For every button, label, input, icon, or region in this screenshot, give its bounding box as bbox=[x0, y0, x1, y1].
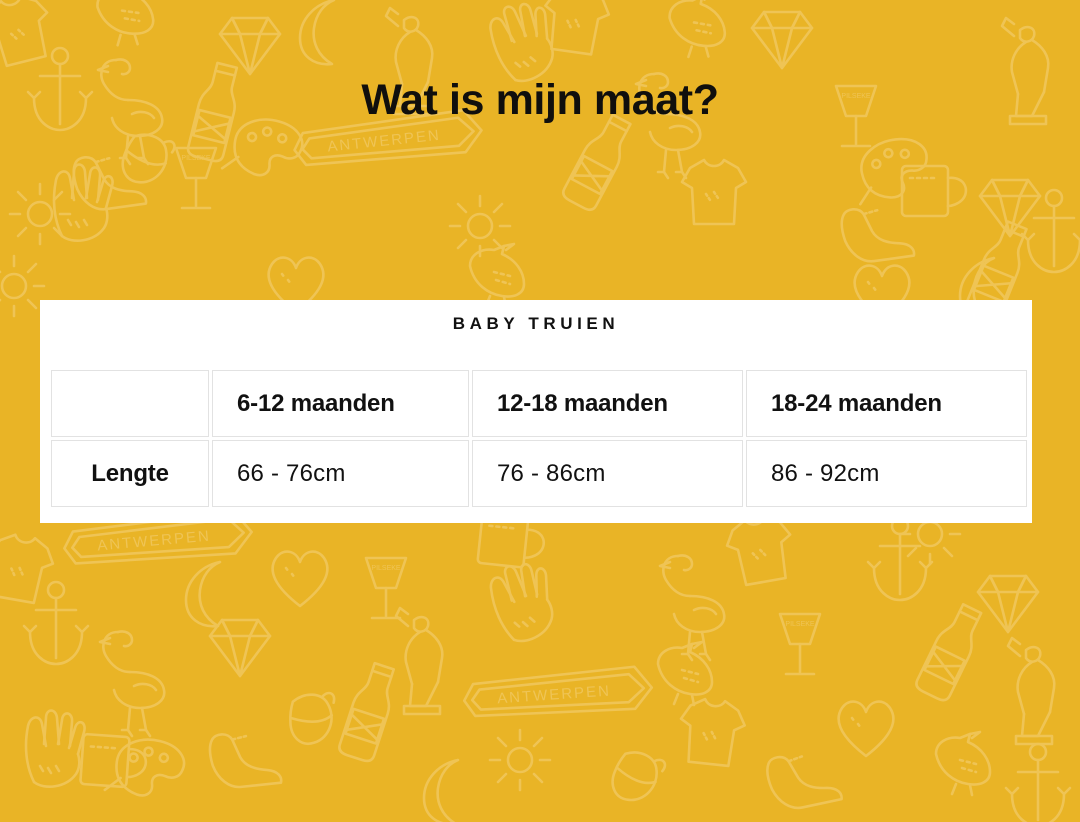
cell-lengte-18-24-maanden: 86 - 92cm bbox=[746, 440, 1027, 507]
size-chart-heading: BABY TRUIEN bbox=[40, 300, 1032, 334]
column-header-6-12-maanden: 6-12 maanden bbox=[212, 370, 469, 437]
page-title: Wat is mijn maat? bbox=[0, 72, 1080, 128]
size-chart-card: BABY TRUIEN 6-12 maanden 12-18 maanden 1… bbox=[40, 300, 1032, 523]
table-row: Lengte 66 - 76cm 76 - 86cm 86 - 92cm bbox=[51, 440, 1027, 507]
row-label-lengte: Lengte bbox=[51, 440, 209, 507]
table-corner-cell bbox=[51, 370, 209, 437]
cell-lengte-12-18-maanden: 76 - 86cm bbox=[472, 440, 743, 507]
column-header-18-24-maanden: 18-24 maanden bbox=[746, 370, 1027, 437]
table-header-row: 6-12 maanden 12-18 maanden 18-24 maanden bbox=[51, 370, 1027, 437]
column-header-12-18-maanden: 12-18 maanden bbox=[472, 370, 743, 437]
table-body: Lengte 66 - 76cm 76 - 86cm 86 - 92cm bbox=[51, 440, 1027, 507]
size-chart-table: 6-12 maanden 12-18 maanden 18-24 maanden… bbox=[48, 367, 1030, 510]
table-header: 6-12 maanden 12-18 maanden 18-24 maanden bbox=[51, 370, 1027, 437]
cell-lengte-6-12-maanden: 66 - 76cm bbox=[212, 440, 469, 507]
